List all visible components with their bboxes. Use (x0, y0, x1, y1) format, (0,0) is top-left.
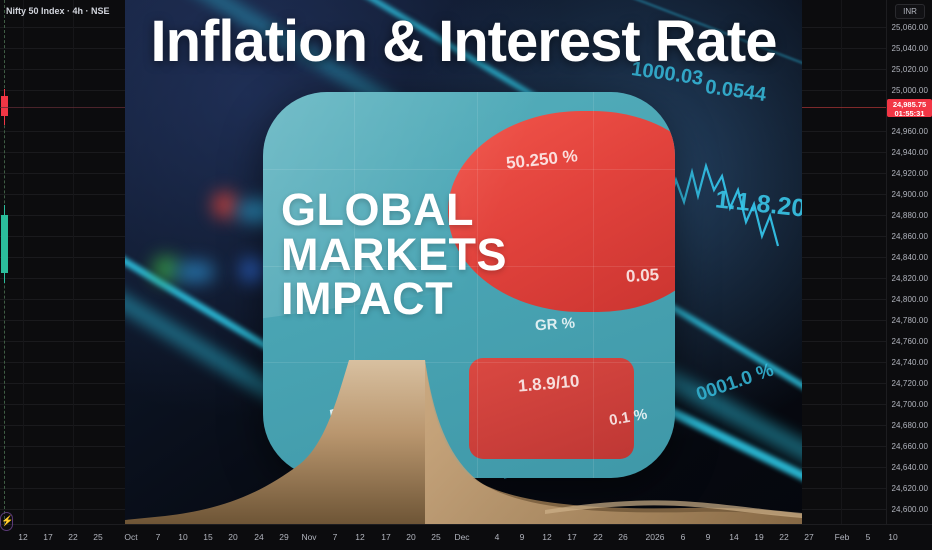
chart-pane[interactable]: 1000.03 0.0544 1.1.8.20 0001.0 % P00E1.0… (0, 0, 886, 524)
time-tick: 22 (779, 532, 788, 542)
time-tick: 25 (93, 532, 102, 542)
price-tick: 24,620.00 (892, 484, 929, 493)
price-tick: 24,720.00 (892, 379, 929, 388)
card-headline: GLOBAL MARKETS IMPACT (271, 188, 675, 322)
price-tick: 24,640.00 (892, 463, 929, 472)
time-tick: 10 (888, 532, 897, 542)
time-tick: 6 (681, 532, 686, 542)
time-tick: 17 (567, 532, 576, 542)
price-tick: 25,020.00 (892, 65, 929, 74)
bokeh-light (175, 262, 215, 282)
price-tick: 24,940.00 (892, 148, 929, 157)
time-tick: 12 (542, 532, 551, 542)
card-line-1: GLOBAL (281, 188, 675, 233)
candle-up (0, 205, 9, 283)
photo-number: 0.0544 (704, 76, 768, 107)
bokeh-light (213, 192, 237, 218)
price-tick: 24,760.00 (892, 337, 929, 346)
last-price-value: 24,985.75 (887, 100, 932, 109)
time-tick: 22 (68, 532, 77, 542)
grid-line (73, 0, 74, 524)
price-tick: 24,600.00 (892, 505, 929, 514)
time-tick: 2026 (646, 532, 665, 542)
time-tick: Dec (454, 532, 469, 542)
bokeh-light (241, 258, 263, 282)
price-tick: 24,960.00 (892, 127, 929, 136)
price-tick: 24,900.00 (892, 190, 929, 199)
time-tick: Feb (835, 532, 850, 542)
currency-label: INR (895, 4, 925, 19)
time-tick: 24 (254, 532, 263, 542)
card-line-3: IMPACT (281, 277, 675, 322)
time-tick: 15 (203, 532, 212, 542)
price-tick: 25,060.00 (892, 23, 929, 32)
bar-countdown: 01:55:31 (887, 109, 932, 118)
last-price-badge[interactable]: 24,985.75 01:55:31 (887, 99, 932, 117)
time-tick: 20 (228, 532, 237, 542)
price-tick: 24,660.00 (892, 442, 929, 451)
time-tick: 14 (729, 532, 738, 542)
page-title: Inflation & Interest Rate (125, 8, 802, 75)
time-tick: 7 (333, 532, 338, 542)
price-tick: 25,040.00 (892, 44, 929, 53)
time-tick: 26 (618, 532, 627, 542)
price-tick: 24,700.00 (892, 400, 929, 409)
time-tick: Oct (124, 532, 137, 542)
price-tick: 24,820.00 (892, 274, 929, 283)
sand-dune-graphic (125, 360, 802, 524)
price-tick: 24,880.00 (892, 211, 929, 220)
symbol-title[interactable]: Nifty 50 Index · 4h · NSE (6, 6, 110, 16)
price-axis[interactable]: INR 25,060.00 25,040.00 25,020.00 25,000… (886, 0, 932, 524)
time-tick: 22 (593, 532, 602, 542)
time-tick: 17 (43, 532, 52, 542)
grid-line (841, 0, 842, 524)
time-tick: 17 (381, 532, 390, 542)
price-tick: 24,800.00 (892, 295, 929, 304)
grid-line (23, 0, 24, 524)
price-tick: 24,680.00 (892, 421, 929, 430)
price-tick: 24,860.00 (892, 232, 929, 241)
time-tick: 10 (178, 532, 187, 542)
time-tick: 9 (520, 532, 525, 542)
time-tick: 19 (754, 532, 763, 542)
time-axis[interactable]: 12 17 22 25 Oct 7 10 15 20 24 29 Nov 7 1… (0, 524, 932, 550)
time-tick: 20 (406, 532, 415, 542)
time-tick: 12 (355, 532, 364, 542)
price-tick: 24,780.00 (892, 316, 929, 325)
lightning-bolt-icon[interactable]: ⚡ (0, 512, 13, 531)
time-tick: 12 (18, 532, 27, 542)
time-tick: 4 (495, 532, 500, 542)
card-line-2: MARKETS (281, 233, 675, 278)
time-tick: 25 (431, 532, 440, 542)
time-tick: 9 (706, 532, 711, 542)
price-tick: 25,000.00 (892, 86, 929, 95)
price-tick: 24,920.00 (892, 169, 929, 178)
time-tick: 29 (279, 532, 288, 542)
price-tick: 24,740.00 (892, 358, 929, 367)
time-tick: 7 (156, 532, 161, 542)
time-tick: Nov (301, 532, 316, 542)
time-tick: 27 (804, 532, 813, 542)
time-tick: 5 (866, 532, 871, 542)
price-tick: 24,840.00 (892, 253, 929, 262)
